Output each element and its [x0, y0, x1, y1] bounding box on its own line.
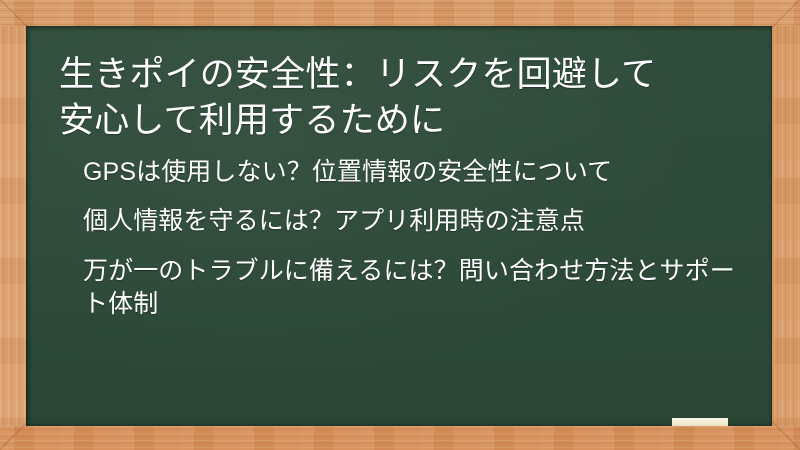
- list-item: GPSは使用しない？位置情報の安全性について: [83, 156, 755, 189]
- list-item: 個人情報を守るには？アプリ利用時の注意点: [83, 205, 755, 238]
- list-item: 万が一のトラブルに備えるには？問い合わせ方法とサポート体制: [83, 255, 755, 322]
- board-topic-list: GPSは使用しない？位置情報の安全性について 個人情報を守るには？アプリ利用時の…: [83, 156, 755, 321]
- frame-rail-left: [0, 0, 26, 450]
- chalkboard-surface: 生きポイの安全性：リスクを回避して 安心して利用するために GPSは使用しない？…: [26, 26, 772, 426]
- frame-rail-top: [0, 0, 800, 26]
- frame-rail-right: [774, 0, 800, 450]
- frame-rail-bottom: [0, 426, 800, 450]
- chalk-stick: [672, 418, 728, 426]
- board-title: 生きポイの安全性：リスクを回避して 安心して利用するために: [59, 52, 749, 143]
- blackboard-slide: 生きポイの安全性：リスクを回避して 安心して利用するために GPSは使用しない？…: [0, 0, 800, 450]
